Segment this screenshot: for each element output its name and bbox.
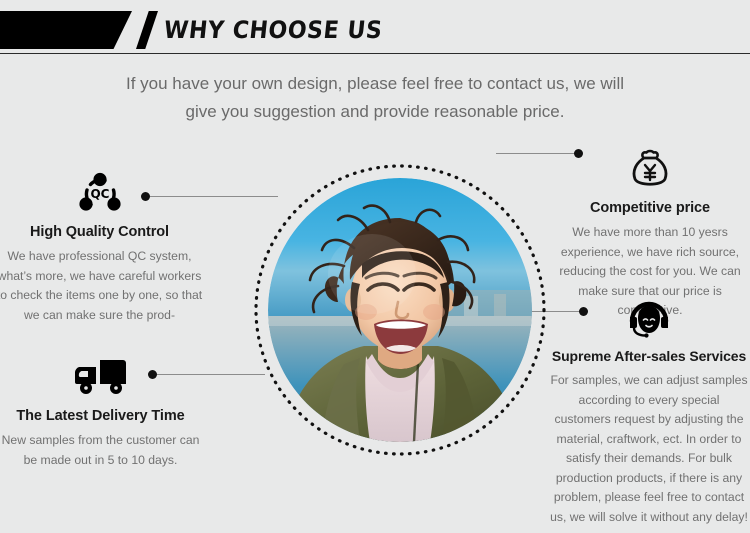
header-slash-accent xyxy=(136,11,158,49)
feature-delivery-time: The Latest Delivery Time New samples fro… xyxy=(0,356,203,470)
qc-badge-icon: QC xyxy=(0,172,207,218)
feature-body: We have professional QC system, what’s m… xyxy=(0,247,203,325)
feature-title: Competitive price xyxy=(552,200,748,216)
header-black-bar xyxy=(0,11,132,49)
feature-quality-control: QC High Quality Control We have professi… xyxy=(0,172,207,325)
header-divider xyxy=(0,53,750,54)
feature-body: New samples from the customer can be mad… xyxy=(1,431,201,470)
page-header: WHY CHOOSE US xyxy=(0,11,750,51)
center-photo-circle xyxy=(252,162,548,458)
page-title: WHY CHOOSE US xyxy=(162,14,384,46)
delivery-truck-icon xyxy=(0,356,203,402)
intro-line-2: give you suggestion and provide reasonab… xyxy=(95,98,655,126)
svg-text:QC: QC xyxy=(90,187,109,201)
child-photo xyxy=(268,178,532,442)
feature-body: For samples, we can adjust samples accor… xyxy=(549,371,749,527)
feature-after-sales-services: Supreme After-sales Services For samples… xyxy=(548,296,750,527)
feature-competitive-price: Competitive price We have more than 10 y… xyxy=(552,148,748,321)
child-photo-illustration xyxy=(268,178,532,442)
feature-title: The Latest Delivery Time xyxy=(0,408,203,424)
intro-text: If you have your own design, please feel… xyxy=(95,70,655,126)
money-bag-yen-icon xyxy=(552,148,748,194)
why-choose-us-page: WHY CHOOSE US If you have your own desig… xyxy=(0,0,750,533)
feature-title: High Quality Control xyxy=(0,224,207,240)
headset-support-icon xyxy=(548,296,750,342)
feature-title: Supreme After-sales Services xyxy=(548,348,750,364)
intro-line-1: If you have your own design, please feel… xyxy=(95,70,655,98)
